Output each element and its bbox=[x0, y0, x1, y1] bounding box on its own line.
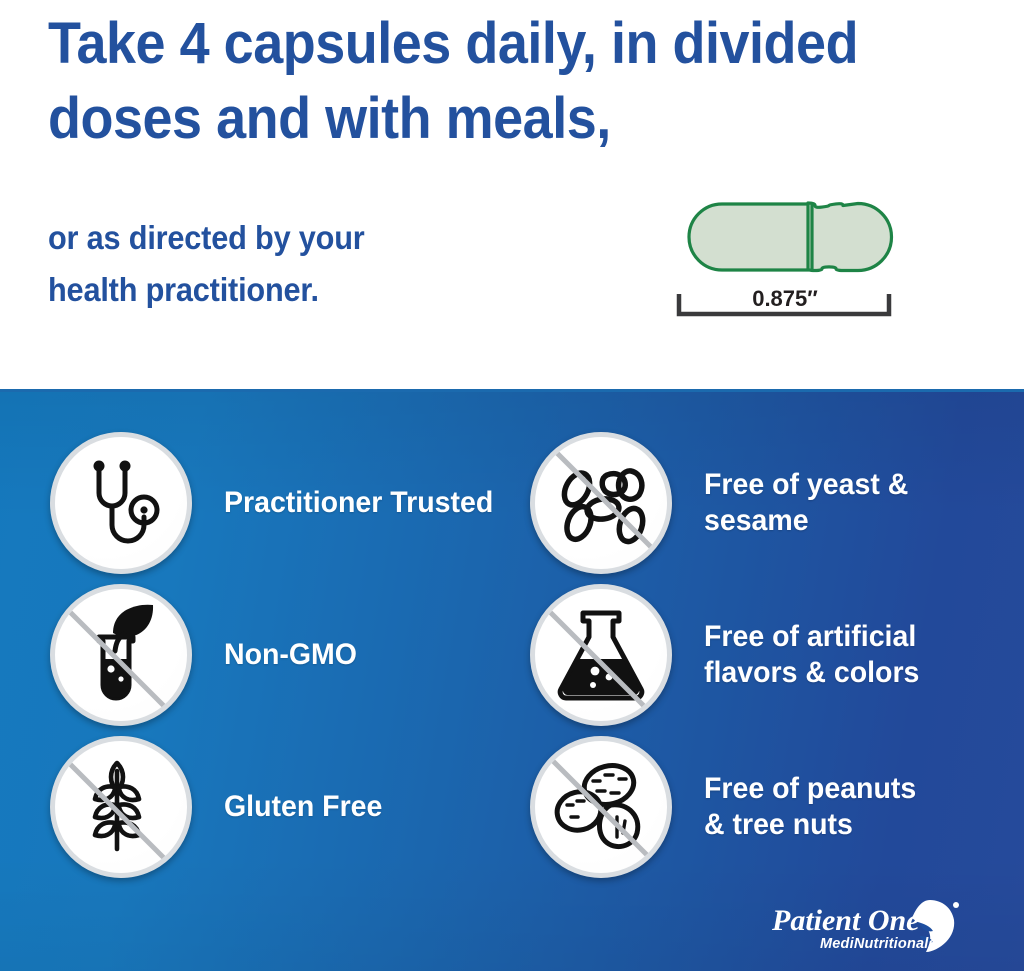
features-list: Practitioner Trusted bbox=[0, 392, 1024, 971]
sesame-seeds-icon bbox=[535, 437, 667, 569]
page-title: Take 4 capsules daily, in divided doses … bbox=[48, 6, 913, 156]
feature-free-of-artificial-flavors-colors: Free of artificial flavors & colors bbox=[530, 584, 1000, 726]
stethoscope-badge bbox=[50, 432, 192, 574]
wheat-stalk-icon bbox=[55, 741, 187, 873]
directions-section: Take 4 capsules daily, in divided doses … bbox=[0, 0, 1024, 389]
test-tube-leaf-badge bbox=[50, 584, 192, 726]
capsule-size-diagram: 0.875″ bbox=[660, 190, 910, 370]
patient-one-logo: Patient One MediNutritionals bbox=[770, 896, 980, 958]
test-tube-leaf-icon bbox=[55, 589, 187, 721]
feature-label: Non-GMO bbox=[224, 637, 357, 673]
feature-practitioner-trusted: Practitioner Trusted bbox=[50, 432, 520, 574]
stethoscope-icon bbox=[55, 437, 187, 569]
brand-logo: Patient One MediNutritionals bbox=[770, 896, 980, 956]
feature-label: Practitioner Trusted bbox=[224, 485, 493, 521]
capsule-dimension-label: 0.875″ bbox=[660, 286, 910, 312]
feature-free-of-peanuts-tree-nuts: Free of peanuts & tree nuts bbox=[530, 736, 1000, 878]
erlenmeyer-flask-badge bbox=[530, 584, 672, 726]
peanuts-icon bbox=[535, 741, 667, 873]
sesame-seeds-badge bbox=[530, 432, 672, 574]
logo-wordmark: Patient One bbox=[771, 904, 920, 937]
page-subtitle: or as directed by your health practition… bbox=[48, 212, 439, 316]
erlenmeyer-flask-icon bbox=[535, 589, 667, 721]
peanuts-badge bbox=[530, 736, 672, 878]
feature-gluten-free: Gluten Free bbox=[50, 736, 520, 878]
feature-free-of-yeast-sesame: Free of yeast & sesame bbox=[530, 432, 1000, 574]
feature-label: Free of peanuts & tree nuts bbox=[704, 771, 916, 843]
infographic-page: Take 4 capsules daily, in divided doses … bbox=[0, 0, 1024, 971]
wheat-stalk-badge bbox=[50, 736, 192, 878]
features-panel: Practitioner Trusted bbox=[0, 389, 1024, 971]
feature-non-gmo: Non-GMO bbox=[50, 584, 520, 726]
feature-label: Free of artificial flavors & colors bbox=[704, 619, 919, 691]
feature-label: Gluten Free bbox=[224, 789, 382, 825]
logo-tagline: MediNutritionals bbox=[820, 936, 937, 952]
feature-label: Free of yeast & sesame bbox=[704, 467, 908, 539]
